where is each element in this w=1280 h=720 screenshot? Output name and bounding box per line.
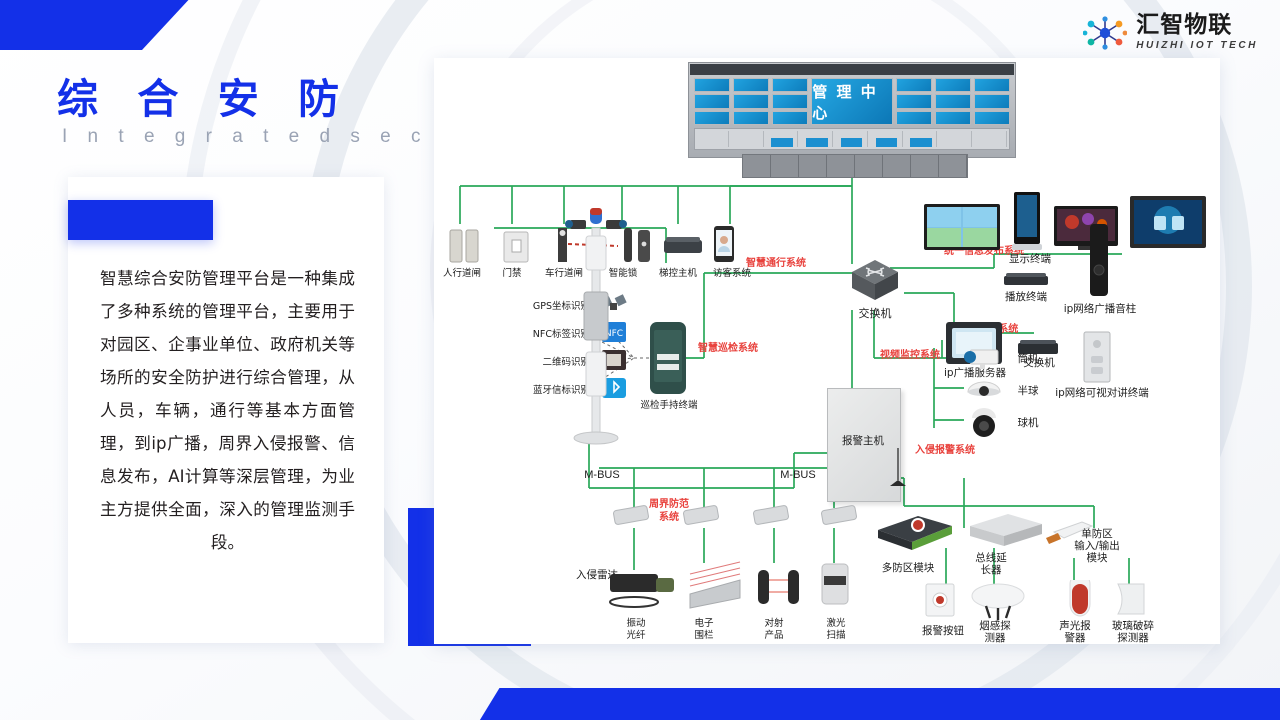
diagram-canvas: 管 理 中 心: [434, 58, 1220, 644]
video-wall-cell: [772, 78, 808, 92]
camera-label-dome: 半球: [1008, 386, 1048, 397]
desk-cell: [975, 131, 1007, 147]
camera-label-bullet: 筒机: [1008, 354, 1048, 365]
desk-cell: [767, 131, 799, 147]
console-seat: [911, 155, 939, 177]
video-wall-cell: [694, 111, 730, 125]
desk-monitor-icon: [876, 138, 898, 147]
molecule-network-icon: [1083, 16, 1127, 50]
console-seat: [939, 155, 967, 177]
electric-fence-icon: [690, 562, 740, 608]
bus-label-mbus-left: M-BUS: [574, 470, 630, 481]
beam-detector-icon: [758, 570, 799, 604]
video-wall-screens: 管 理 中 心: [694, 78, 1010, 125]
alarm-device-label-panic-button: 报警按钮: [912, 626, 974, 637]
device-label-elevator-controller: 梯控主机: [650, 268, 706, 279]
slide-canvas: 汇智物联 HUIZHI IOT TECH 综 合 安 防 I n t e g r…: [0, 0, 1280, 720]
turnstile-icon: [450, 230, 478, 262]
desk-monitor-icon: [806, 138, 828, 147]
vibration-fiber-icon: [610, 574, 674, 607]
bullet-camera-icon: [964, 350, 998, 369]
smoke-detector-icon: [972, 584, 1024, 620]
logo-text-cn: 汇智物联: [1136, 14, 1258, 37]
core-switch-icon: [846, 256, 904, 306]
perimeter-label-beam-detector: 对射 产品: [748, 618, 800, 642]
desk-cell: [871, 131, 903, 147]
display-terminal-label: 显示终端: [994, 254, 1066, 265]
management-center-video-wall: 管 理 中 心: [688, 62, 1016, 158]
display-terminal-icons: [922, 192, 1208, 254]
camera-label-ptz: 球机: [1008, 418, 1048, 429]
camera-icons: [962, 346, 1006, 442]
device-label-access-control: 门禁: [486, 268, 538, 279]
bus-extender-icon: [970, 514, 1042, 546]
perimeter-label-electric-fence: 电子 围栏: [678, 618, 730, 642]
video-wall-cell: [733, 94, 769, 108]
patrol-handheld-terminal-icon: [644, 320, 692, 396]
video-wall-cell: [974, 78, 1010, 92]
brand-logo: 汇智物联 HUIZHI IOT TECH: [1083, 14, 1258, 51]
alarm-device-label-glass-break: 玻璃破碎 探测器: [1102, 620, 1164, 644]
ip-video-intercom-icon: [1080, 330, 1114, 384]
video-wall-column: [935, 78, 971, 125]
video-wall-cell: [974, 94, 1010, 108]
device-label-visitor-system: 访客系统: [704, 268, 760, 279]
video-wall-cell: [694, 78, 730, 92]
visitor-system-icon: [714, 226, 734, 262]
video-wall-cell: [935, 78, 971, 92]
video-wall-cell: [896, 111, 932, 125]
alarm-module-label-single-zone-io: 单防区 输入/输出 模块: [1062, 528, 1132, 564]
architecture-diagram-panel: 管 理 中 心: [434, 58, 1220, 644]
console-seat: [855, 155, 883, 177]
perimeter-transmitter-icons: [610, 502, 860, 532]
video-wall-column: [694, 78, 730, 125]
alarm-device-label-sound-light-alarm: 声光报 警器: [1050, 620, 1100, 644]
operator-desk-row: [694, 128, 1010, 150]
desk-cell: [940, 131, 972, 147]
video-wall-cell: [772, 111, 808, 125]
video-wall-header-strip: [690, 64, 1014, 75]
elevator-controller-icon: [664, 237, 702, 253]
tag-block: [68, 200, 213, 240]
multi-zone-module-icon: [878, 516, 952, 550]
ip-speaker-column-label: ip网络广播音柱: [1048, 304, 1152, 315]
ip-video-intercom-label: ip网络可视对讲终端: [1042, 388, 1162, 399]
desk-cell: [906, 131, 938, 147]
system-label-video-surveillance: 视频监控系统: [866, 350, 954, 361]
video-wall-cell: [935, 111, 971, 125]
device-label-turnstile: 人行道闸: [434, 268, 490, 279]
desk-monitor-icon: [771, 138, 793, 147]
laser-scanner-icon: [822, 564, 848, 604]
ip-network-speaker-column-icon: [1084, 222, 1114, 300]
perimeter-label-laser-scanner: 激光 扫描: [810, 618, 862, 642]
desk-cell: [732, 131, 764, 147]
perimeter-device-icons: [606, 554, 868, 616]
standing-kiosk-icon: [1012, 192, 1042, 250]
video-wall-cell: [896, 78, 932, 92]
core-switch-label: 交换机: [842, 308, 908, 319]
transmitter-icon: [613, 505, 857, 525]
perimeter-label-vibration-fiber: 振动 光纤: [610, 618, 662, 642]
desk-cell: [836, 131, 868, 147]
alarm-module-label-multi-zone: 多防区模块: [870, 563, 946, 574]
video-wall-column: [896, 78, 932, 125]
large-led-display-icon: [1130, 196, 1206, 248]
sound-light-alarm-icon: [1070, 580, 1090, 616]
console-seat: [827, 155, 855, 177]
panic-button-icon: [926, 584, 954, 616]
alarm-device-icons: [920, 580, 1156, 624]
system-label-smart-access: 智慧通行系统: [730, 258, 822, 269]
ptz-camera-icon: [972, 408, 996, 437]
glass-break-detector-icon: [1118, 584, 1144, 614]
decor-bottom-band: [475, 688, 1280, 720]
video-wall-cell: [896, 94, 932, 108]
video-wall-cell: [694, 94, 730, 108]
access-panel-icon: [504, 232, 528, 262]
play-terminal-label: 播放终端: [990, 292, 1062, 303]
console-seat: [771, 155, 799, 177]
console-seat: [743, 155, 771, 177]
page-title-cn: 综 合 安 防: [57, 65, 353, 125]
intrusion-radar-pole-icon: [564, 206, 628, 466]
video-wall-column: [974, 78, 1010, 125]
video-wall-cell: [974, 111, 1010, 125]
dome-camera-icon: [968, 382, 1000, 396]
desk-cell: [697, 131, 729, 147]
video-wall-cell: [772, 94, 808, 108]
lcd-video-wall-icon: [924, 204, 1000, 250]
alarm-device-label-smoke-detector: 烟感探 测器: [970, 620, 1020, 644]
alarm-module-label-bus-extender: 总线延 长器: [964, 552, 1018, 576]
bus-label-mbus-right: M-BUS: [770, 470, 826, 481]
media-player-icon: [1000, 268, 1052, 290]
system-label-smart-patrol: 智慧巡检系统: [682, 343, 774, 354]
logo-text-en: HUIZHI IOT TECH: [1136, 41, 1258, 51]
video-wall-column: [733, 78, 769, 125]
video-wall-cell: [733, 78, 769, 92]
desk-monitor-icon: [841, 138, 863, 147]
system-label-intrusion-alarm: 入侵报警系统: [912, 444, 978, 457]
video-wall-column: [772, 78, 808, 125]
desk-cell: [801, 131, 833, 147]
description-text: 智慧综合安防管理平台是一种集成了多种系统的管理平台，主要用于对园区、企事业单位、…: [100, 262, 355, 559]
video-wall-title: 管 理 中 心: [811, 78, 892, 125]
video-wall-cell: [935, 94, 971, 108]
desk-monitor-icon: [910, 138, 932, 147]
video-wall-cell: [733, 111, 769, 125]
console-seat: [799, 155, 827, 177]
console-seat: [883, 155, 911, 177]
alarm-antenna-icon: [886, 446, 910, 490]
console-table: [742, 154, 968, 178]
patrol-terminal-label: 巡检手持终端: [630, 400, 708, 411]
